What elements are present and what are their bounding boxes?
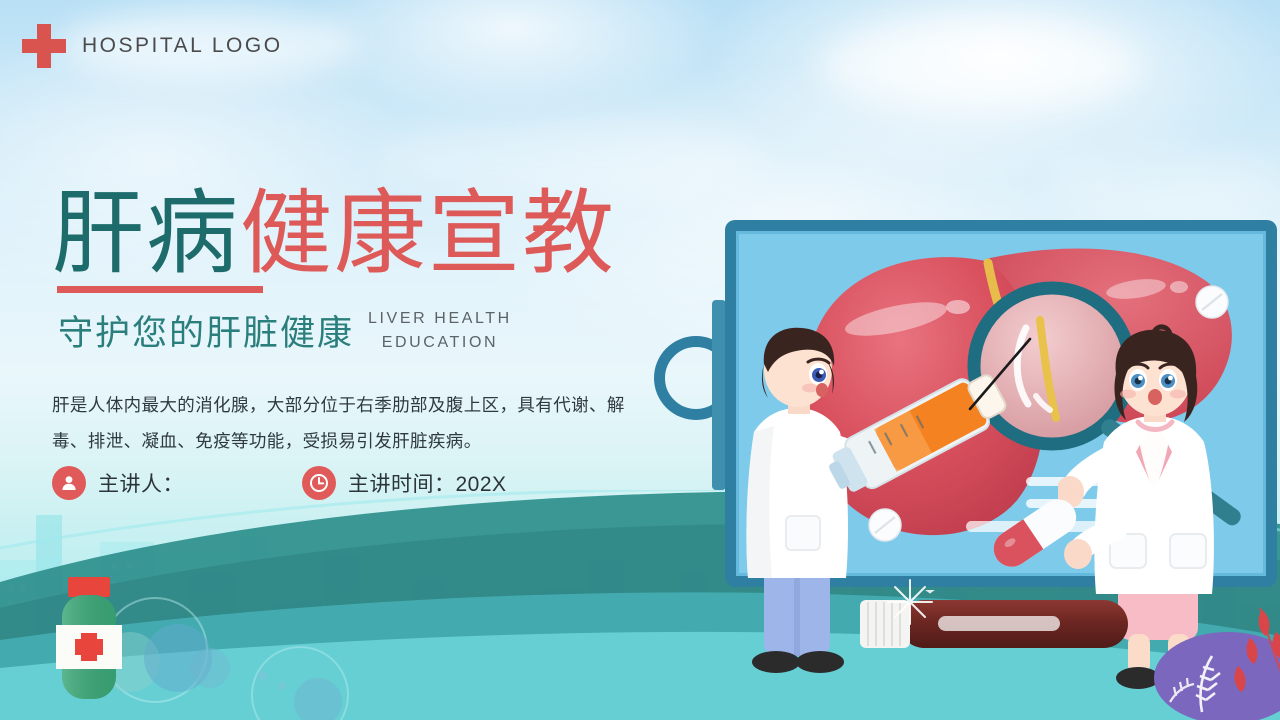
- subtitle-row: 守护您的肝脏健康 LIVER HEALTH EDUCATION: [58, 305, 512, 356]
- subtitle-en-line1: LIVER HEALTH: [368, 310, 512, 327]
- syringe-icon: [818, 325, 1038, 515]
- illustration-group: [640, 180, 1280, 720]
- title-part-red: 健康宣教: [240, 180, 616, 287]
- description-text: 肝是人体内最大的消化腺，大部分位于右季肋部及腹上区，具有代谢、解毒、排泄、凝血、…: [52, 388, 652, 460]
- pill-tablet-icon: [865, 505, 905, 545]
- person-icon: [52, 466, 86, 500]
- title-block: 肝病健康宣教: [52, 188, 712, 280]
- sparkle-icon: [880, 572, 940, 632]
- capsule-icon: [978, 492, 1088, 572]
- cloud-wisp: [820, 20, 1140, 110]
- decorative-foliage: [1110, 592, 1280, 720]
- slide-root: HOSPITAL LOGO 肝病健康宣教 守护您的肝脏健康 LIVER HEAL…: [0, 0, 1280, 720]
- logo-text: HOSPITAL LOGO: [82, 34, 283, 58]
- main-title: 肝病健康宣教: [52, 188, 712, 280]
- speaker-info: 主讲人：: [52, 466, 184, 500]
- speaker-label: 主讲人：: [98, 468, 184, 498]
- subtitle-en-line2: EDUCATION: [382, 334, 498, 351]
- title-underline: [57, 286, 263, 293]
- time-label: 主讲时间：202X: [348, 468, 507, 498]
- time-info: 主讲时间：202X: [302, 466, 507, 500]
- meta-row: 主讲人： 主讲时间：202X: [52, 466, 507, 500]
- red-cross-icon: [22, 24, 66, 68]
- subtitle-english: LIVER HEALTH EDUCATION: [368, 307, 512, 353]
- clock-icon: [302, 466, 336, 500]
- pill-tablet-icon: [1192, 282, 1232, 322]
- hospital-logo[interactable]: HOSPITAL LOGO: [22, 24, 283, 68]
- title-part-teal: 肝病: [52, 180, 240, 287]
- medicine-bottle-icon: [46, 575, 132, 705]
- subtitle-chinese: 守护您的肝脏健康: [58, 305, 354, 356]
